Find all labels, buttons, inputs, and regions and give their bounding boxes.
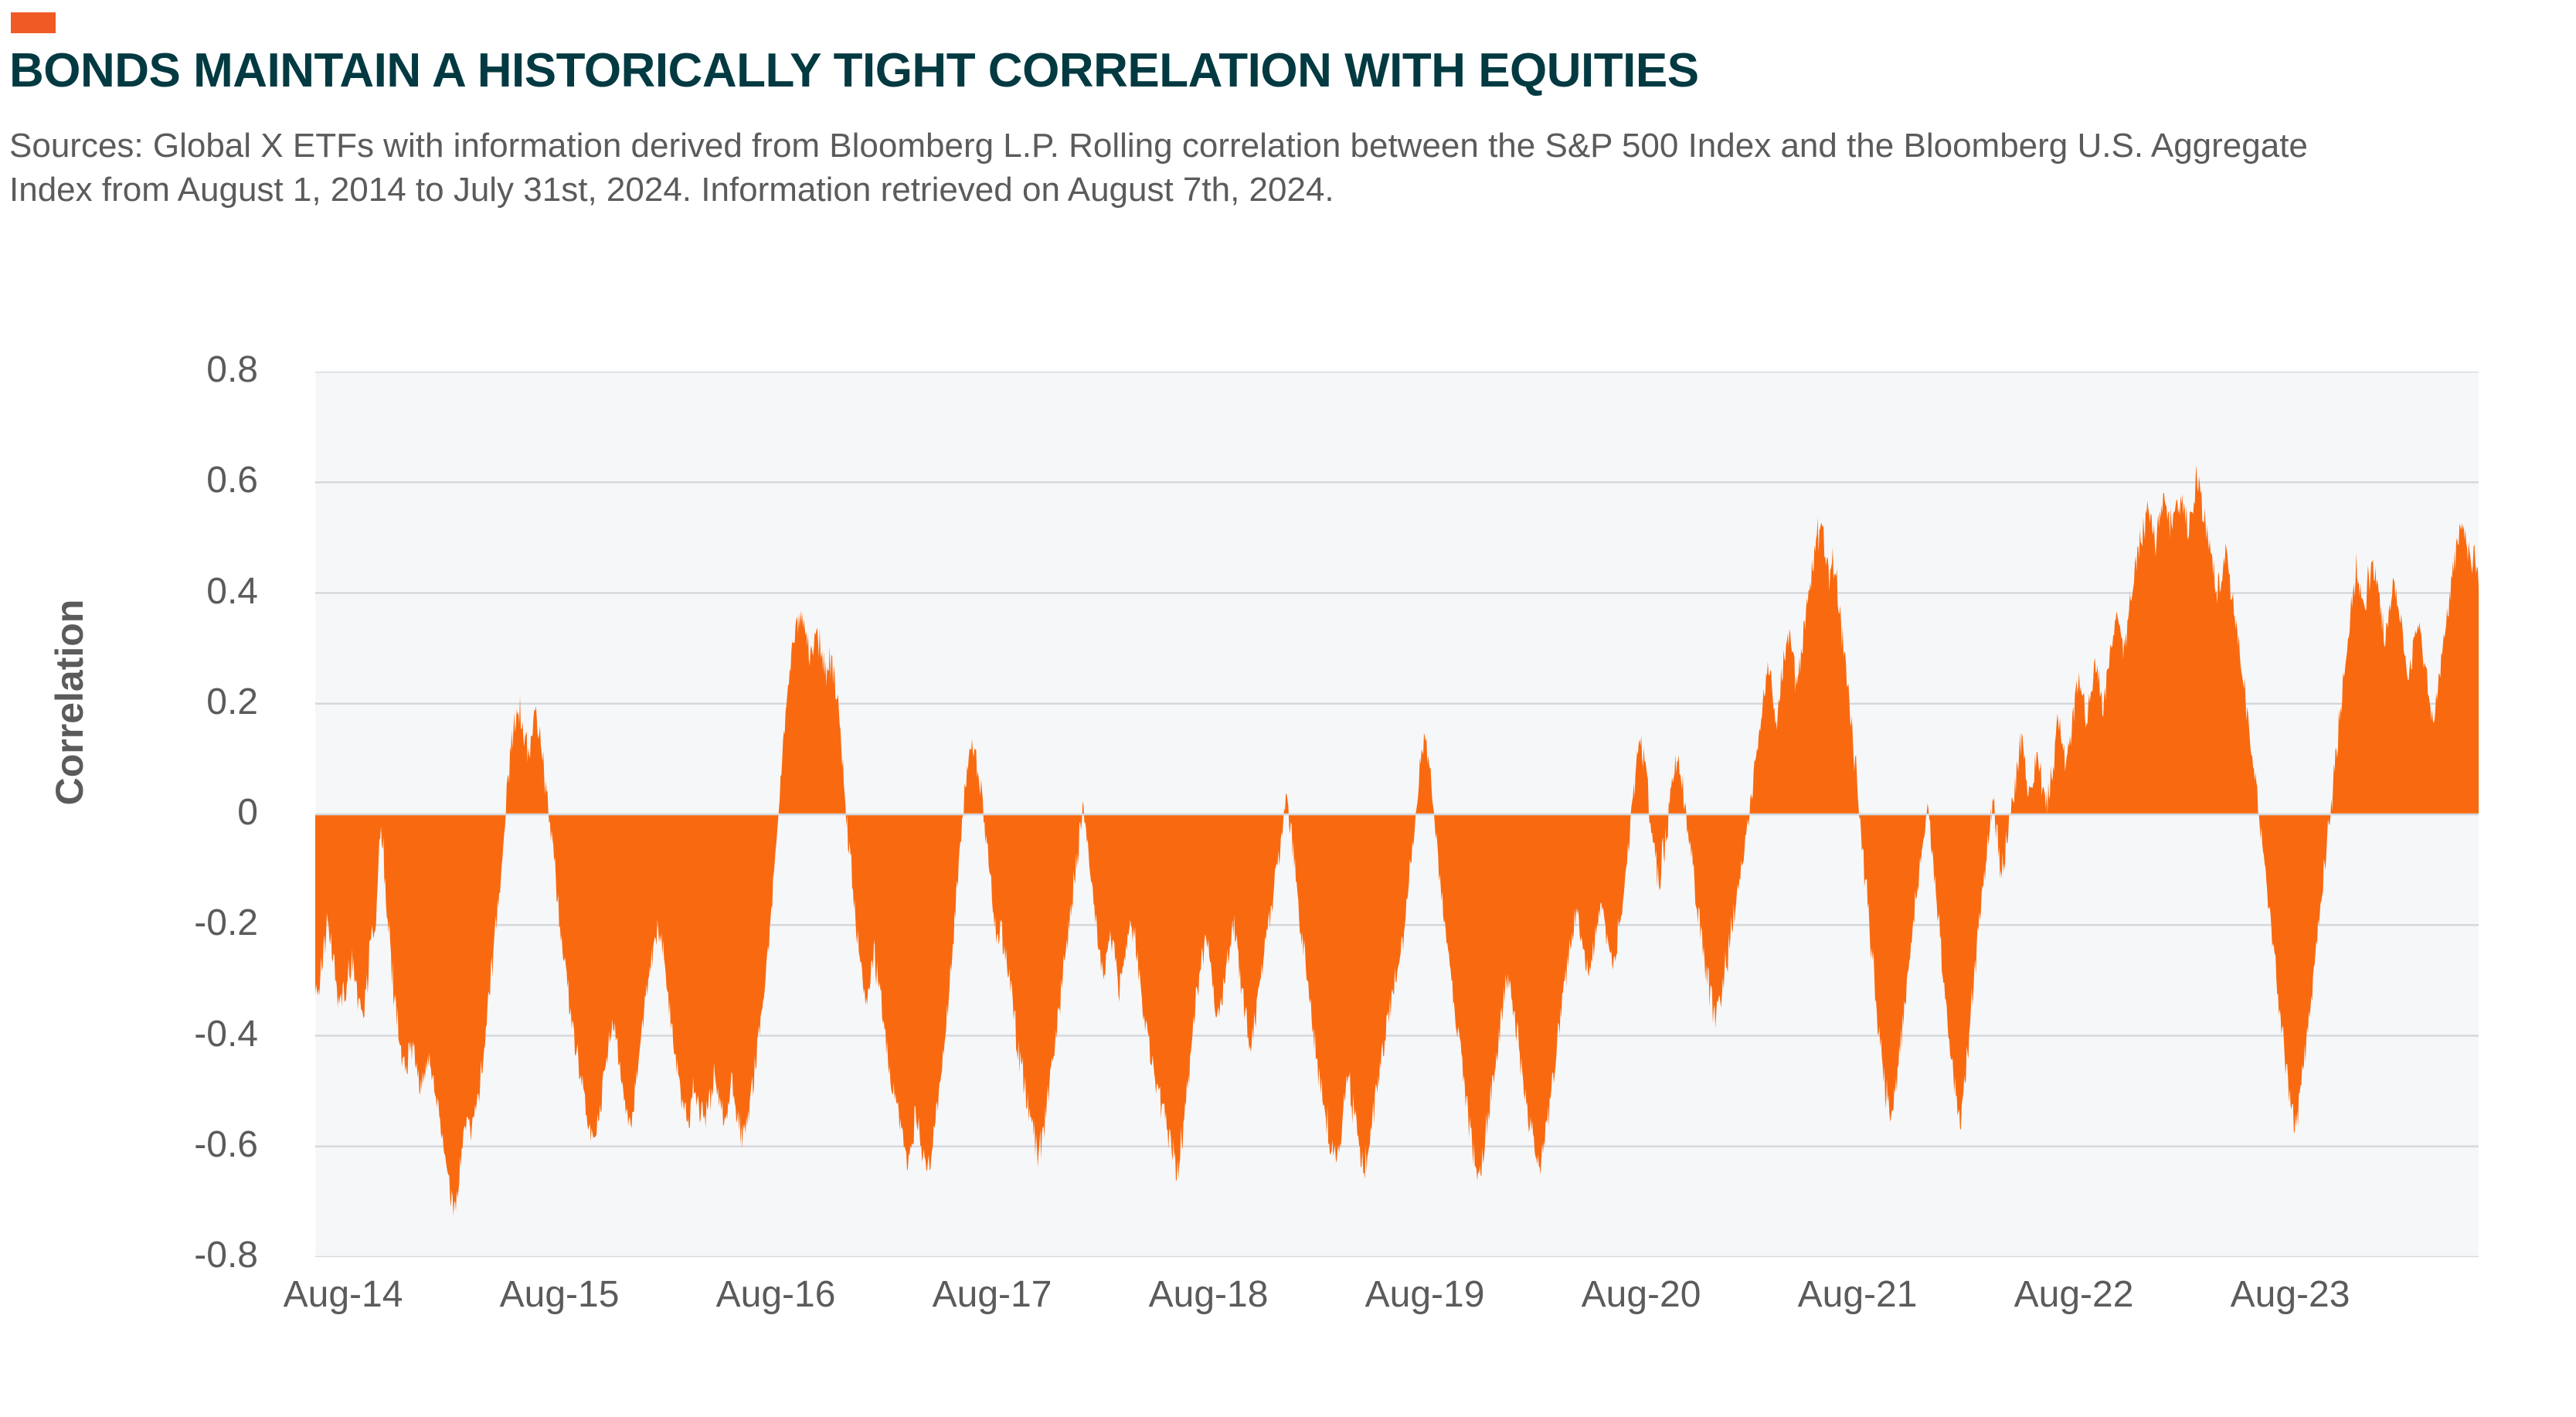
y-tick-label: 0 [57, 791, 258, 834]
correlation-area-chart [315, 372, 2479, 1257]
x-tick-label: Aug-17 [876, 1273, 1108, 1316]
x-tick-label: Aug-20 [1525, 1273, 1757, 1316]
y-tick-label: 0.6 [57, 459, 258, 501]
correlation-area-path [315, 465, 2479, 1216]
y-tick-label: 0.8 [57, 348, 258, 391]
chart-figure: Correlation 0.80.60.40.20-0.2-0.4-0.6-0.… [0, 0, 2576, 1417]
x-tick-label: Aug-21 [1742, 1273, 1973, 1316]
y-tick-label: -0.8 [57, 1234, 258, 1276]
x-tick-label: Aug-22 [1958, 1273, 2190, 1316]
x-tick-label: Aug-16 [660, 1273, 892, 1316]
x-tick-label: Aug-18 [1093, 1273, 1324, 1316]
plot-area [315, 372, 2479, 1257]
x-tick-label: Aug-19 [1309, 1273, 1541, 1316]
y-tick-label: 0.2 [57, 681, 258, 723]
x-tick-label: Aug-23 [2174, 1273, 2406, 1316]
y-tick-label: -0.2 [57, 902, 258, 944]
x-tick-label: Aug-15 [443, 1273, 675, 1316]
y-tick-label: -0.6 [57, 1123, 258, 1166]
x-tick-label: Aug-14 [227, 1273, 459, 1316]
y-tick-label: -0.4 [57, 1013, 258, 1055]
y-tick-label: 0.4 [57, 570, 258, 613]
